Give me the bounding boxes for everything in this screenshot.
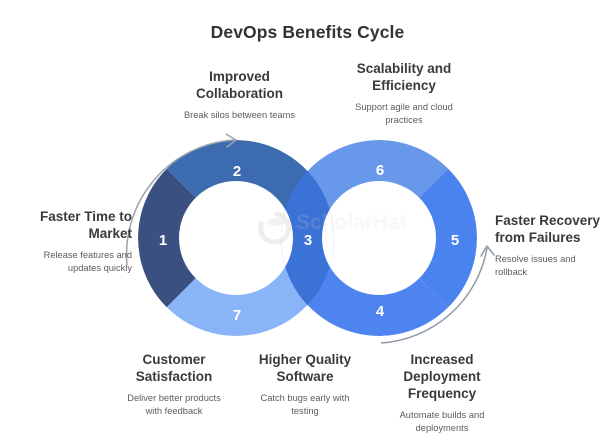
label-higher-quality-software: Higher Quality Software Catch bugs early… bbox=[243, 351, 367, 417]
segment-number-4: 4 bbox=[376, 303, 385, 320]
segment-number-2: 2 bbox=[233, 163, 241, 180]
label-heading: Scalability and Efficiency bbox=[324, 60, 484, 94]
segment-number-3: 3 bbox=[304, 232, 312, 249]
segment-number-1: 1 bbox=[159, 232, 167, 249]
label-improved-collaboration: Improved Collaboration Break silos betwe… bbox=[152, 68, 327, 122]
label-faster-time-to-market: Faster Time to Market Release features a… bbox=[10, 208, 132, 274]
label-description: Deliver better products with feedback bbox=[112, 392, 236, 417]
watermark-text: ScholarHat bbox=[296, 211, 407, 234]
label-heading: Faster Recovery from Failures bbox=[495, 212, 613, 246]
label-heading: Increased Deployment Frequency bbox=[380, 351, 504, 402]
label-description: Catch bugs early with testing bbox=[243, 392, 367, 417]
label-increased-deployment-frequency: Increased Deployment Frequency Automate … bbox=[380, 351, 504, 434]
segment-number-6: 6 bbox=[376, 162, 384, 179]
label-heading: Faster Time to Market bbox=[10, 208, 132, 242]
label-description: Release features and updates quickly bbox=[10, 249, 132, 274]
label-faster-recovery-from-failures: Faster Recovery from Failures Resolve is… bbox=[495, 212, 613, 278]
label-heading: Higher Quality Software bbox=[243, 351, 367, 385]
label-heading: Customer Satisfaction bbox=[112, 351, 236, 385]
label-description: Support agile and cloud practices bbox=[324, 101, 484, 126]
segment-number-7: 7 bbox=[233, 307, 241, 324]
label-customer-satisfaction: Customer Satisfaction Deliver better pro… bbox=[112, 351, 236, 417]
label-description: Automate builds and deployments bbox=[380, 409, 504, 434]
label-scalability-and-efficiency: Scalability and Efficiency Support agile… bbox=[324, 60, 484, 126]
diagram-canvas: DevOps Benefits Cycle bbox=[0, 0, 615, 441]
label-description: Break silos between teams bbox=[152, 109, 327, 122]
segment-number-5: 5 bbox=[451, 232, 459, 249]
label-heading: Improved Collaboration bbox=[152, 68, 327, 102]
label-description: Resolve issues and rollback bbox=[495, 253, 613, 278]
